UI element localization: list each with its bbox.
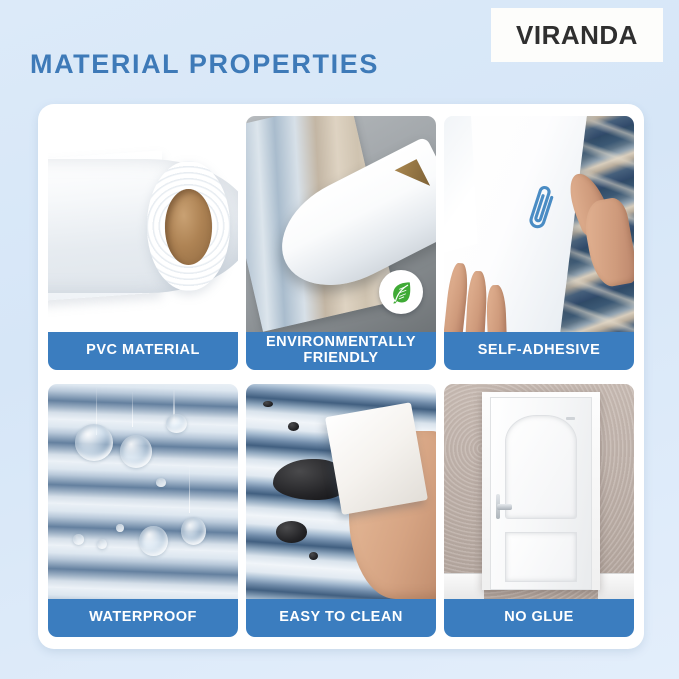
feature-card-environmentally-friendly[interactable]: ENVIRONMENTALLY FRIENDLY bbox=[246, 116, 436, 370]
feature-label-no-glue: NO GLUE bbox=[444, 599, 634, 637]
door-slab-shape bbox=[490, 397, 591, 590]
feature-grid: PVC MATERIAL ENVIRONMENTALLY FRIENDLY bbox=[48, 116, 634, 637]
water-droplet bbox=[73, 534, 84, 545]
feature-label-environmentally-friendly: ENVIRONMENTALLY FRIENDLY bbox=[246, 332, 436, 370]
water-droplet bbox=[139, 526, 168, 556]
pvc-cardboard-core-shape bbox=[165, 189, 213, 264]
left-hand-shape bbox=[446, 245, 526, 331]
stain-mark bbox=[288, 422, 299, 431]
self-adhesive-photo bbox=[444, 116, 634, 332]
water-droplet bbox=[120, 435, 152, 467]
feature-card-waterproof[interactable]: WATERPROOF bbox=[48, 384, 238, 638]
door-top-detail-shape bbox=[566, 417, 575, 420]
eco-wallpaper-photo bbox=[246, 116, 436, 332]
feature-card-no-glue[interactable]: NO GLUE bbox=[444, 384, 634, 638]
feature-panel: PVC MATERIAL ENVIRONMENTALLY FRIENDLY bbox=[38, 104, 644, 649]
brand-name: VIRANDA bbox=[516, 20, 638, 51]
water-droplet bbox=[156, 478, 166, 487]
feature-card-pvc-material[interactable]: PVC MATERIAL bbox=[48, 116, 238, 370]
leaf-icon bbox=[379, 270, 423, 314]
peel-fold-shape bbox=[444, 116, 478, 256]
feature-label-waterproof: WATERPROOF bbox=[48, 599, 238, 637]
feature-card-self-adhesive[interactable]: SELF-ADHESIVE bbox=[444, 116, 634, 370]
stain-mark bbox=[309, 552, 319, 561]
water-droplet bbox=[75, 424, 113, 461]
right-hand-shape bbox=[566, 172, 634, 293]
door-frame-shape bbox=[482, 392, 600, 590]
door-handle-lever-shape bbox=[497, 504, 512, 510]
feature-label-self-adhesive: SELF-ADHESIVE bbox=[444, 332, 634, 370]
feature-label-pvc-material: PVC MATERIAL bbox=[48, 332, 238, 370]
easy-to-clean-photo bbox=[246, 384, 436, 600]
baseboard-left-shape bbox=[444, 573, 484, 599]
water-droplet bbox=[116, 524, 124, 533]
pvc-roll-photo bbox=[48, 116, 238, 332]
baseboard-right-shape bbox=[598, 573, 634, 599]
door-lower-panel-shape bbox=[505, 532, 576, 582]
cleaning-cloth-shape bbox=[325, 403, 428, 516]
water-droplet bbox=[97, 539, 107, 550]
brand-logo-box: VIRANDA bbox=[491, 8, 663, 62]
water-droplet bbox=[166, 414, 187, 433]
water-droplet bbox=[181, 517, 206, 545]
stain-mark bbox=[276, 521, 306, 543]
stain-mark bbox=[263, 401, 273, 407]
door-upper-panel-shape bbox=[505, 415, 576, 518]
feature-card-easy-to-clean[interactable]: EASY TO CLEAN bbox=[246, 384, 436, 638]
feature-label-easy-to-clean: EASY TO CLEAN bbox=[246, 599, 436, 637]
page-header: MATERIAL PROPERTIES VIRANDA bbox=[0, 0, 679, 105]
page-title: MATERIAL PROPERTIES bbox=[30, 49, 379, 80]
waterproof-photo bbox=[48, 384, 238, 600]
no-glue-door-photo bbox=[444, 384, 634, 600]
